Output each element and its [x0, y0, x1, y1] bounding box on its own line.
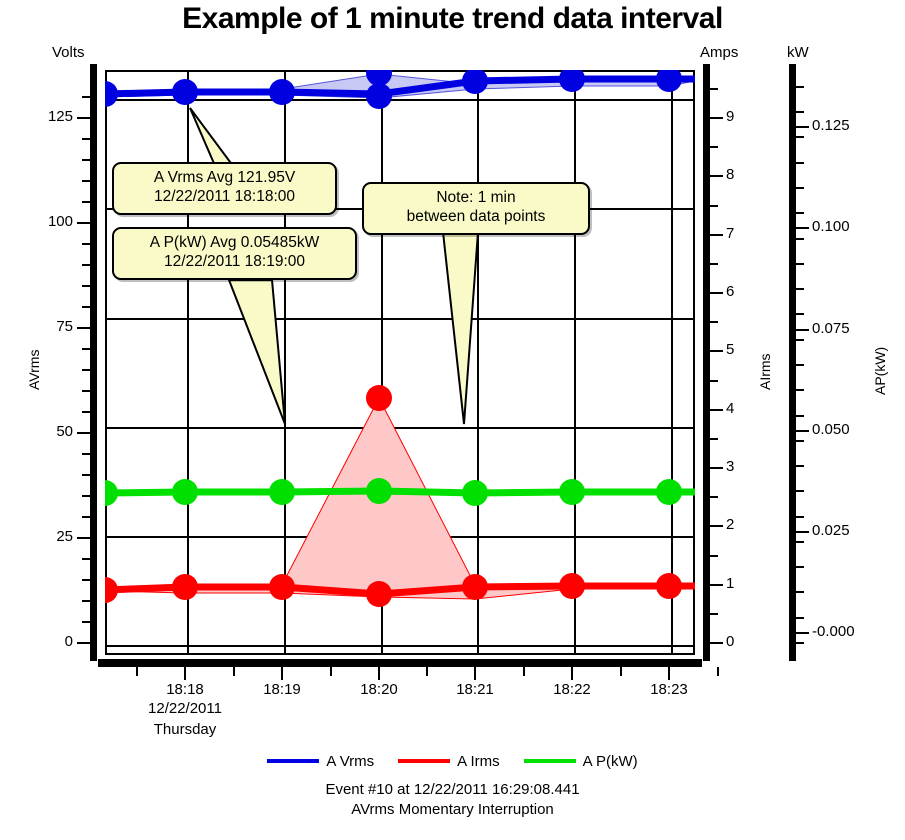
time-axis-tick-label: 18:21 — [435, 681, 515, 698]
time-tick-major — [281, 667, 283, 680]
axis-tick-major — [710, 234, 723, 236]
callout-pkw-line2: 12/22/2011 18:19:00 — [123, 253, 346, 272]
axis-tick-minor — [710, 496, 718, 498]
axis-tick-label: 7 — [726, 225, 734, 242]
axis-tick-label: 3 — [726, 458, 734, 475]
axis-tick-major — [77, 117, 90, 119]
time-axis-tick-label: 18:20 — [339, 681, 419, 698]
axis-tick-minor — [796, 516, 804, 518]
axis-tick-major — [710, 525, 723, 527]
callout-note-line1: Note: 1 min — [373, 189, 579, 208]
axis-tick-label: -0.000 — [812, 623, 855, 640]
axis-tick-label: 0.125 — [812, 117, 850, 134]
time-tick-minor — [717, 667, 719, 676]
axis-tick-major — [77, 432, 90, 434]
data-point-vrms — [172, 79, 198, 105]
axis-tick-minor — [710, 205, 718, 207]
legend-item[interactable]: A Vrms — [267, 752, 374, 770]
data-point-vrms — [559, 70, 585, 92]
axis-tick-minor — [82, 474, 90, 476]
axis-tick-label: 4 — [726, 400, 734, 417]
data-point-irms — [105, 577, 118, 603]
data-point-vrms — [462, 70, 488, 94]
data-point-vrms — [105, 81, 118, 107]
axis-tick-minor — [710, 88, 718, 90]
axis-tick-minor — [82, 516, 90, 518]
axis-tick-minor — [796, 566, 804, 568]
data-point-pkw — [366, 478, 392, 504]
axis-tick-minor — [82, 285, 90, 287]
x-axis-weekday: Thursday — [105, 721, 265, 738]
callout-note: Note: 1 min between data points — [362, 182, 590, 235]
legend-label: A P(kW) — [583, 753, 638, 770]
axis-tick-minor — [82, 96, 90, 98]
chart-canvas: Example of 1 minute trend data interval … — [0, 0, 905, 840]
time-tick-minor — [523, 667, 525, 676]
axis-tick-minor — [82, 600, 90, 602]
legend-label: A Vrms — [326, 753, 374, 770]
axis-tick-label: 100 — [0, 213, 73, 230]
legend-swatch-icon — [398, 759, 450, 763]
time-tick-major — [571, 667, 573, 680]
axis-tick-minor — [796, 238, 804, 240]
axis-tick-label: 0.025 — [812, 522, 850, 539]
axis-tick-minor — [796, 136, 804, 138]
callout-note-line2: between data points — [373, 208, 579, 227]
legend-item[interactable]: A Irms — [398, 752, 500, 770]
data-point-pkw — [105, 480, 118, 506]
data-point-vrms — [366, 83, 392, 109]
axis-tick-label: 9 — [726, 108, 734, 125]
data-point-vrms — [656, 70, 682, 92]
axis-tick-minor — [796, 187, 804, 189]
axis-tick-minor — [82, 138, 90, 140]
axis-tick-minor — [796, 212, 804, 214]
data-point-irms — [656, 573, 682, 599]
data-point-irms-max — [366, 385, 392, 411]
axis-tick-minor — [82, 558, 90, 560]
axis-tick-major — [710, 292, 723, 294]
axis-tick-minor — [796, 465, 804, 467]
data-point-pkw — [559, 479, 585, 505]
axis-tick-minor — [82, 159, 90, 161]
time-tick-minor — [330, 667, 332, 676]
axis-tick-major — [796, 430, 809, 432]
data-point-irms — [462, 574, 488, 600]
axis-tick-minor — [82, 180, 90, 182]
axis-tick-label: 0 — [0, 633, 73, 650]
axis-tick-minor — [796, 86, 804, 88]
time-axis-tick-label: 18:23 — [629, 681, 709, 698]
x-axis-date: 12/22/2011 — [105, 700, 265, 717]
axis-tick-minor — [796, 617, 804, 619]
axis-tick-minor — [82, 264, 90, 266]
axis-tick-major — [796, 126, 809, 128]
axis-tick-label: 125 — [0, 108, 73, 125]
axis-tick-minor — [710, 438, 718, 440]
axis-tick-major — [710, 584, 723, 586]
axis-tick-minor — [796, 490, 804, 492]
time-tick-minor — [426, 667, 428, 676]
data-point-irms — [269, 574, 295, 600]
data-point-pkw — [462, 480, 488, 506]
axis-tick-major — [77, 327, 90, 329]
axis-tick-major — [796, 632, 809, 634]
axis-tick-label: 0 — [726, 633, 734, 650]
legend-swatch-icon — [267, 759, 319, 763]
axis-tick-major — [77, 642, 90, 644]
axis-tick-minor — [82, 306, 90, 308]
right-axis-kw-unit-label: kW — [787, 44, 809, 61]
axis-tick-minor — [82, 453, 90, 455]
kw-axis-bar — [789, 64, 796, 661]
axis-tick-minor — [82, 411, 90, 413]
caption-line1: Event #10 at 12/22/2011 16:29:08.441 — [0, 780, 905, 800]
axis-tick-label: 0.100 — [812, 218, 850, 235]
axis-tick-major — [710, 350, 723, 352]
axis-tick-label: 0.050 — [812, 421, 850, 438]
amps-axis-title: AIrms — [757, 353, 773, 390]
axis-tick-label: 75 — [0, 318, 73, 335]
data-point-pkw — [269, 479, 295, 505]
right-axis-amps-unit-label: Amps — [700, 44, 738, 61]
chart-caption: Event #10 at 12/22/2011 16:29:08.441 AVr… — [0, 780, 905, 821]
left-axis-title: AVrms — [26, 350, 42, 390]
axis-tick-label: 0.075 — [812, 320, 850, 337]
time-tick-minor — [136, 667, 138, 676]
axis-tick-minor — [710, 613, 718, 615]
axis-tick-minor — [796, 541, 804, 543]
axis-tick-major — [710, 175, 723, 177]
axis-tick-major — [710, 642, 723, 644]
axis-tick-minor — [796, 313, 804, 315]
axis-tick-minor — [796, 288, 804, 290]
time-axis-tick-label: 18:22 — [532, 681, 612, 698]
axis-tick-minor — [82, 390, 90, 392]
callout-pkw-line1: A P(kW) Avg 0.05485kW — [123, 234, 346, 253]
axis-tick-minor — [796, 415, 804, 417]
time-tick-minor — [233, 667, 235, 676]
time-tick-major — [378, 667, 380, 680]
series-layer — [105, 70, 695, 655]
axis-tick-minor — [710, 380, 718, 382]
axis-tick-minor — [82, 348, 90, 350]
axis-tick-minor — [796, 111, 804, 113]
legend: A VrmsA IrmsA P(kW) — [0, 752, 905, 770]
axis-tick-label: 6 — [726, 283, 734, 300]
axis-tick-minor — [82, 495, 90, 497]
data-point-irms — [172, 574, 198, 600]
data-point-pkw — [656, 479, 682, 505]
axis-tick-major — [710, 467, 723, 469]
time-tick-minor — [620, 667, 622, 676]
axis-tick-minor — [796, 263, 804, 265]
axis-tick-minor — [82, 369, 90, 371]
kw-axis-title: AP(kW) — [872, 347, 888, 395]
axis-tick-minor — [710, 321, 718, 323]
chart-title: Example of 1 minute trend data interval — [0, 2, 905, 36]
legend-swatch-icon — [524, 759, 576, 763]
data-point-vrms — [269, 79, 295, 105]
axis-tick-major — [710, 117, 723, 119]
callout-vrms: A Vrms Avg 121.95V 12/22/2011 18:18:00 — [112, 162, 337, 215]
axis-tick-minor — [796, 389, 804, 391]
time-tick-major — [184, 667, 186, 680]
axis-tick-minor — [710, 146, 718, 148]
axis-tick-minor — [82, 579, 90, 581]
left-axis-unit-label: Volts — [52, 44, 85, 61]
axis-tick-label: 25 — [0, 528, 73, 545]
axis-tick-label: 5 — [726, 341, 734, 358]
axis-tick-minor — [796, 440, 804, 442]
caption-line2: AVrms Momentary Interruption — [0, 800, 905, 820]
axis-tick-minor — [796, 162, 804, 164]
axis-tick-minor — [710, 263, 718, 265]
axis-tick-label: 1 — [726, 575, 734, 592]
callout-pkw: A P(kW) Avg 0.05485kW 12/22/2011 18:19:0… — [112, 227, 357, 280]
axis-tick-label: 8 — [726, 166, 734, 183]
time-tick-major — [474, 667, 476, 680]
axis-tick-major — [796, 227, 809, 229]
data-point-irms — [559, 573, 585, 599]
callout-vrms-line1: A Vrms Avg 121.95V — [123, 169, 326, 188]
callout-vrms-line2: 12/22/2011 18:18:00 — [123, 188, 326, 207]
axis-tick-major — [796, 531, 809, 533]
time-axis-bar — [98, 659, 702, 667]
axis-tick-minor — [710, 555, 718, 557]
data-point-pkw — [172, 479, 198, 505]
axis-tick-major — [77, 222, 90, 224]
axis-tick-major — [710, 409, 723, 411]
data-point-irms — [366, 581, 392, 607]
axis-tick-minor — [82, 243, 90, 245]
axis-tick-major — [77, 537, 90, 539]
axis-tick-label: 2 — [726, 516, 734, 533]
amps-axis-bar — [703, 64, 710, 661]
legend-item[interactable]: A P(kW) — [524, 752, 638, 770]
legend-label: A Irms — [457, 753, 500, 770]
axis-tick-minor — [796, 591, 804, 593]
left-axis-bar — [90, 64, 97, 661]
axis-tick-minor — [796, 364, 804, 366]
axis-tick-minor — [82, 201, 90, 203]
time-axis-tick-label: 18:19 — [242, 681, 322, 698]
axis-tick-major — [796, 329, 809, 331]
axis-tick-minor — [796, 339, 804, 341]
axis-tick-minor — [82, 621, 90, 623]
time-axis-tick-label: 18:18 — [145, 681, 225, 698]
axis-tick-label: 50 — [0, 423, 73, 440]
axis-tick-minor — [796, 642, 804, 644]
time-tick-major — [668, 667, 670, 680]
